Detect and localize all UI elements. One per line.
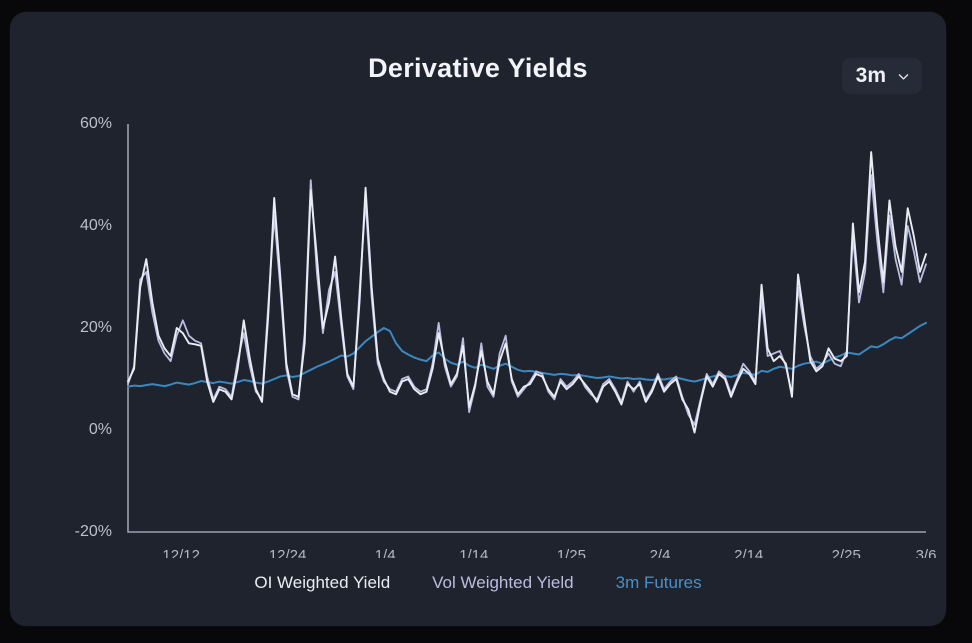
x-axis-tick: 1/4 [375, 547, 396, 558]
x-axis-tick-labels: 12/1212/241/41/141/252/42/142/253/6 [162, 547, 936, 558]
range-selector-dropdown[interactable]: 3m [842, 58, 922, 94]
page-title: Derivative Yields [10, 52, 946, 84]
series-lines [128, 152, 926, 433]
x-axis-tick: 12/24 [269, 547, 307, 558]
y-axis-tick: -20% [75, 523, 112, 540]
yield-line-chart: 60%40%20%0%-20% 12/1212/241/41/141/252/4… [10, 108, 946, 558]
card-header: Derivative Yields 3m [10, 12, 946, 108]
x-axis-tick: 2/4 [650, 547, 671, 558]
y-axis-tick: 20% [80, 319, 112, 336]
x-axis-tick: 1/14 [459, 547, 488, 558]
legend-item-0[interactable]: OI Weighted Yield [254, 572, 390, 594]
x-axis-tick: 3/6 [916, 547, 937, 558]
chart-card: Derivative Yields 3m 60%40%20%0%-20% 12/… [10, 12, 946, 626]
x-axis-tick: 2/25 [832, 547, 861, 558]
legend-item-2[interactable]: 3m Futures [616, 572, 702, 594]
x-axis-tick: 12/12 [162, 547, 200, 558]
x-axis-tick: 1/25 [557, 547, 586, 558]
legend-item-1[interactable]: Vol Weighted Yield [432, 572, 573, 594]
series-line [128, 175, 926, 425]
y-axis-tick-labels: 60%40%20%0%-20% [75, 115, 112, 540]
x-axis-tick: 2/14 [734, 547, 763, 558]
chart-legend: OI Weighted YieldVol Weighted Yield3m Fu… [10, 572, 946, 594]
plot-area: 60%40%20%0%-20% 12/1212/241/41/141/252/4… [10, 108, 946, 558]
y-axis-tick: 40% [80, 217, 112, 234]
y-axis-tick: 60% [80, 115, 112, 132]
y-axis-tick: 0% [89, 421, 112, 438]
page-root: Derivative Yields 3m 60%40%20%0%-20% 12/… [0, 0, 972, 643]
series-line [128, 152, 926, 433]
range-selector-value: 3m [856, 64, 886, 88]
chevron-down-icon [897, 70, 910, 83]
